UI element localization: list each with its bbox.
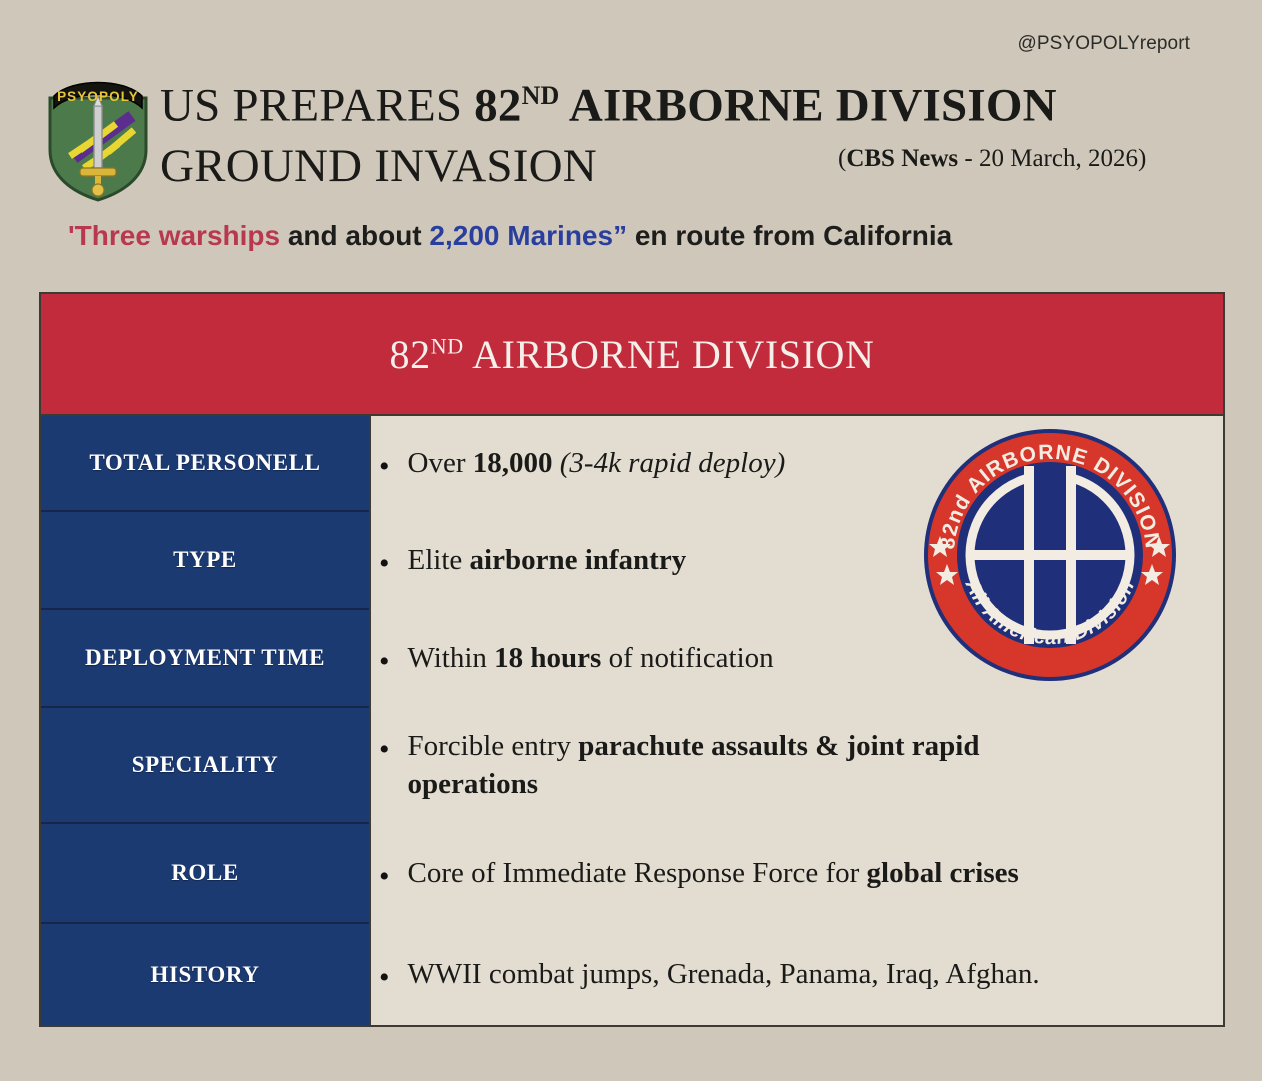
- table-value-text: Elite airborne infantry: [408, 541, 687, 579]
- table-title-number: 82: [390, 332, 431, 377]
- subtitle-blue-text: 2,200 Marines: [429, 220, 613, 251]
- account-handle: @PSYOPOLYreport: [1018, 33, 1191, 55]
- value-plain-a: Core of Immediate Response Force for: [408, 857, 867, 889]
- table-value-text: WWII combat jumps, Grenada, Panama, Iraq…: [408, 955, 1040, 993]
- header: PSYOPOLY US PREPARES 82ND AIRBORNE DIVIS…: [0, 66, 1262, 201]
- table-row-value-role: • Core of Immediate Response Force for g…: [371, 824, 1223, 924]
- table-value-column: 82nd AIRBORNE DIVISION All American Divi…: [371, 416, 1223, 1025]
- table-row-label-deployment-time: DEPLOYMENT TIME: [41, 610, 369, 708]
- value-bold: global crises: [867, 857, 1019, 889]
- value-bold: airborne infantry: [470, 544, 687, 576]
- table-title: 82ND AIRBORNE DIVISION: [390, 331, 875, 378]
- headline-number: 82: [474, 80, 521, 132]
- table-row-value-speciality: • Forcible entry parachute assaults & jo…: [371, 708, 1223, 824]
- table-header-band: 82ND AIRBORNE DIVISION: [41, 294, 1223, 416]
- logo-banner-text: PSYOPOLY: [57, 89, 139, 104]
- 82nd-airborne-division-patch: 82nd AIRBORNE DIVISION All American Divi…: [921, 426, 1179, 684]
- source-date: - 20 March, 2026): [958, 145, 1146, 172]
- subtitle-red-text: Three warships: [75, 220, 280, 251]
- table-value-text: Over 18,000 (3-4k rapid deploy): [408, 444, 786, 482]
- headline: US PREPARES 82ND AIRBORNE DIVISION GROUN…: [160, 66, 1120, 196]
- value-plain-a: Over: [408, 447, 473, 479]
- value-plain-b: [553, 447, 560, 479]
- psyopoly-shield-logo: PSYOPOLY: [40, 72, 156, 202]
- value-plain-a: Forcible entry: [408, 730, 579, 762]
- table-row-label-role: ROLE: [41, 824, 369, 924]
- subtitle-tail-text: en route from California: [627, 220, 952, 251]
- headline-line-1: US PREPARES 82ND AIRBORNE DIVISION: [160, 66, 1120, 136]
- table-row-label-speciality: SPECIALITY: [41, 708, 369, 824]
- bullet-icon: •: [379, 735, 390, 765]
- bullet-icon: •: [379, 452, 390, 482]
- source-attribution: (CBS News - 20 March, 2026): [838, 145, 1146, 173]
- value-italic: (3-4k rapid deploy): [560, 447, 786, 479]
- table-title-rest: AIRBORNE DIVISION: [464, 332, 875, 377]
- table-label-column: TOTAL PERSONELL TYPE DEPLOYMENT TIME SPE…: [41, 416, 371, 1025]
- subtitle-mid-text: and about: [280, 220, 429, 251]
- table-title-ordinal-suffix: ND: [431, 333, 464, 358]
- info-table: 82ND AIRBORNE DIVISION TOTAL PERSONELL T…: [39, 292, 1225, 1027]
- value-bold: 18,000: [473, 447, 553, 479]
- bullet-icon: •: [379, 549, 390, 579]
- division-patch-icon: 82nd AIRBORNE DIVISION All American Divi…: [921, 426, 1179, 684]
- bullet-icon: •: [379, 647, 390, 677]
- headline-ordinal-suffix: ND: [522, 81, 560, 110]
- bullet-icon: •: [379, 963, 390, 993]
- table-body: TOTAL PERSONELL TYPE DEPLOYMENT TIME SPE…: [41, 416, 1223, 1025]
- table-value-text: Forcible entry parachute assaults & join…: [408, 727, 1108, 803]
- table-row-label-type: TYPE: [41, 512, 369, 610]
- table-row-label-total-personell: TOTAL PERSONELL: [41, 416, 369, 512]
- value-plain-b: of notification: [601, 642, 773, 674]
- bullet-icon: •: [379, 862, 390, 892]
- value-plain-a: WWII combat jumps, Grenada, Panama, Iraq…: [408, 958, 1040, 990]
- table-value-text: Core of Immediate Response Force for glo…: [408, 854, 1019, 892]
- shield-icon: PSYOPOLY: [40, 72, 156, 202]
- table-row-label-history: HISTORY: [41, 924, 369, 1025]
- headline-text-b: AIRBORNE DIVISION: [560, 80, 1057, 132]
- subtitle-quote-close: ”: [613, 220, 627, 251]
- value-bold: 18 hours: [494, 642, 601, 674]
- table-row-value-history: • WWII combat jumps, Grenada, Panama, Ir…: [371, 924, 1223, 1025]
- table-value-text: Within 18 hours of notification: [408, 639, 774, 677]
- value-plain-a: Within: [408, 642, 495, 674]
- subtitle-quote-open: ': [68, 220, 75, 251]
- subtitle-quote: 'Three warships and about 2,200 Marines”…: [68, 220, 952, 252]
- value-plain-a: Elite: [408, 544, 470, 576]
- headline-text-a: US PREPARES: [160, 80, 474, 132]
- source-outlet: CBS News: [846, 145, 958, 172]
